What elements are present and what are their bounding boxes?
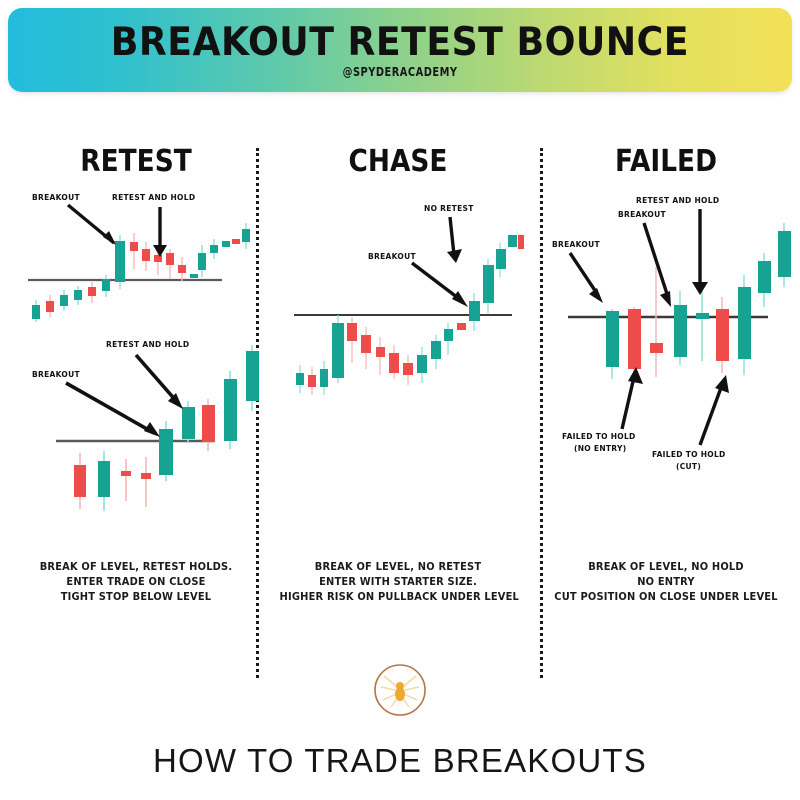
spider-logo bbox=[372, 662, 428, 718]
caption-line: BREAK OF LEVEL, NO HOLD bbox=[548, 560, 785, 575]
column-retest: RETEST bbox=[10, 130, 262, 620]
retest-chart-bottom: BREAKOUT RETEST AND HOLD bbox=[10, 333, 262, 513]
breakout-candle bbox=[469, 301, 480, 321]
annotation-retest-hold: RETEST AND HOLD bbox=[106, 340, 189, 349]
caption-line: BREAK OF LEVEL, RETEST HOLDS. bbox=[18, 560, 255, 575]
caption-line: TIGHT STOP BELOW LEVEL bbox=[18, 590, 255, 605]
caption-line: ENTER TRADE ON CLOSE bbox=[18, 575, 255, 590]
annotation-breakout: BREAKOUT bbox=[368, 252, 416, 261]
infographic-page: BREAKOUT RETEST BOUNCE @SPYDERACADEMY RE… bbox=[0, 0, 800, 800]
caption-line: ENTER WITH STARTER SIZE. bbox=[280, 575, 517, 590]
chase-chart: BREAKOUT NO RETEST bbox=[272, 197, 524, 407]
breakout-candle bbox=[159, 429, 173, 475]
annotation-breakout: BREAKOUT bbox=[32, 370, 80, 379]
annotation-failed-no-entry: FAILED TO HOLD bbox=[562, 432, 636, 441]
page-title: BREAKOUT RETEST BOUNCE bbox=[111, 23, 689, 62]
caption-retest: BREAK OF LEVEL, RETEST HOLDS. ENTER TRAD… bbox=[18, 560, 255, 605]
column-title-chase: CHASE bbox=[287, 144, 509, 179]
caption-failed: BREAK OF LEVEL, NO HOLD NO ENTRY CUT POS… bbox=[548, 560, 785, 605]
annotation-retest-hold: RETEST AND HOLD bbox=[112, 193, 195, 202]
breakout-candle bbox=[115, 241, 125, 282]
caption-line: BREAK OF LEVEL, NO RETEST bbox=[280, 560, 517, 575]
spider-body bbox=[395, 687, 405, 701]
failed-chart: BREAKOUT BREAKOUT RETEST AND HOLD FAILED… bbox=[540, 189, 792, 519]
annotation-breakout: BREAKOUT bbox=[32, 193, 80, 202]
caption-line: NO ENTRY bbox=[548, 575, 785, 590]
annotation-failed-cut: FAILED TO HOLD bbox=[652, 450, 726, 459]
footer-title: HOW TO TRADE BREAKOUTS bbox=[0, 742, 800, 780]
column-title-retest: RETEST bbox=[25, 144, 247, 179]
column-failed: FAILED bbox=[540, 130, 792, 620]
annotation-no-retest: NO RETEST bbox=[424, 204, 474, 213]
annotation-cut: (CUT) bbox=[676, 462, 701, 471]
breakout-candle bbox=[674, 305, 687, 357]
annotation-no-entry: (NO ENTRY) bbox=[574, 444, 626, 453]
annotation-breakout-2: BREAKOUT bbox=[618, 210, 666, 219]
caption-chase: BREAK OF LEVEL, NO RETEST ENTER WITH STA… bbox=[280, 560, 517, 605]
column-chase: CHASE bbox=[272, 130, 524, 620]
columns-container: RETEST bbox=[0, 130, 800, 620]
retest-chart-top: BREAKOUT RETEST AND HOLD bbox=[10, 187, 262, 327]
header-banner: BREAKOUT RETEST BOUNCE @SPYDERACADEMY bbox=[8, 8, 792, 92]
candles bbox=[74, 345, 259, 511]
brand-handle: @SPYDERACADEMY bbox=[343, 66, 458, 78]
annotation-breakout-1: BREAKOUT bbox=[552, 240, 600, 249]
column-title-failed: FAILED bbox=[555, 144, 777, 179]
svg-text:RETEST AND HOLD: RETEST AND HOLD bbox=[112, 193, 195, 202]
annotation-retest-hold: RETEST AND HOLD bbox=[636, 196, 719, 205]
candles bbox=[32, 223, 250, 322]
caption-line: HIGHER RISK ON PULLBACK UNDER LEVEL bbox=[280, 590, 517, 605]
svg-text:BREAKOUT: BREAKOUT bbox=[32, 193, 80, 202]
caption-line: CUT POSITION ON CLOSE UNDER LEVEL bbox=[548, 590, 785, 605]
